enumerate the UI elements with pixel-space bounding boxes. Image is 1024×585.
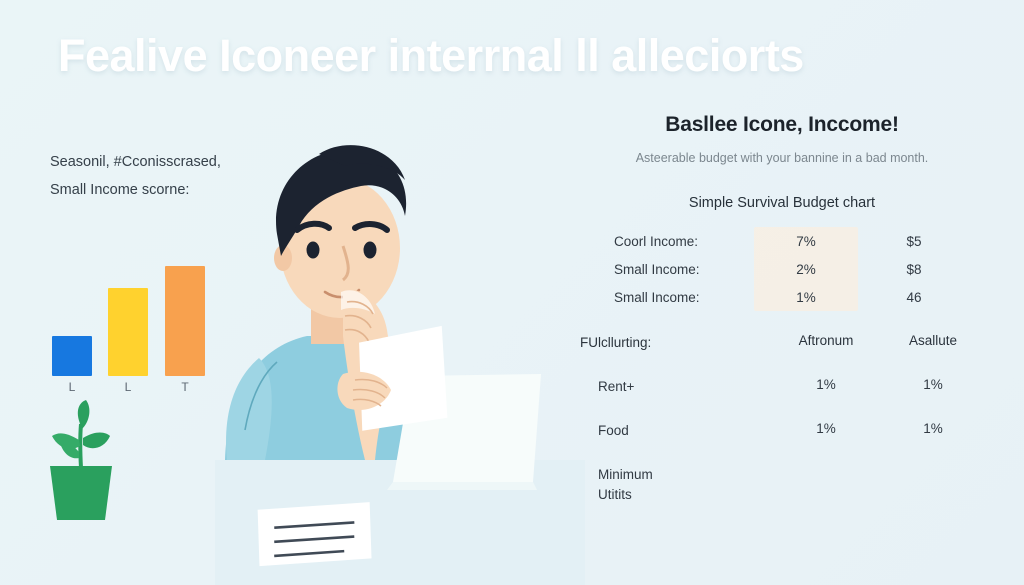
budget-row-percent: 1% [754,290,858,305]
table-row: Coorl Income: 7% $5 [580,227,984,255]
budget-row-amount: $5 [858,234,970,249]
bar-2 [165,266,205,376]
funding-row-label: Food [580,421,770,441]
potted-plant-icon [28,396,134,526]
bar-label-0: L [52,380,92,394]
panel-chart-title: Simple Survival Budget chart [580,195,984,211]
funding-header-col1: Aftronum [770,333,882,348]
bar-chart-plot-area [40,250,215,376]
bar-label-1: L [108,380,148,394]
budget-row-label: Small Income: [580,262,754,277]
budget-row-percent: 2% [754,262,858,277]
funding-header-label: FUlcllurting: [580,333,770,353]
budget-row-label: Coorl Income: [580,234,754,249]
budget-row-percent: 7% [754,234,858,249]
table-row: Small Income: 2% $8 [580,255,984,283]
budget-row-amount: 46 [858,290,970,305]
infographic-canvas: Fealive Iconeer interrnal ll alleciorts … [0,0,1024,585]
thinking-person-at-desk-illustration [215,130,585,585]
budget-row-label: Small Income: [580,290,754,305]
panel-subtitle: Asteerable budget with your bannine in a… [580,151,984,165]
table-row: Small Income: 1% 46 [580,283,984,311]
budget-row-amount: $8 [858,262,970,277]
page-title: Fealive Iconeer interrnal ll alleciorts [58,30,978,82]
bar-label-2: T [165,380,205,394]
funding-row-label: Minimum Utitits [580,465,770,504]
table-row: Food 1% 1% [580,421,984,451]
bar-0 [52,336,92,376]
funding-table-header: FUlcllurting: Aftronum Asallute [580,333,984,363]
funding-row-label: Rent+ [580,377,770,397]
funding-row-col2: 1% [882,377,984,392]
income-bar-chart: L L T [40,250,215,400]
table-row: Minimum Utitits [580,465,984,504]
funding-row-col2: 1% [882,421,984,436]
funding-header-col2: Asallute [882,333,984,348]
funding-table: FUlcllurting: Aftronum Asallute Rent+ 1%… [580,333,984,504]
budget-table: Coorl Income: 7% $5 Small Income: 2% $8 … [580,227,984,311]
funding-row-col1: 1% [770,377,882,392]
table-row: Rent+ 1% 1% [580,377,984,407]
funding-row-col1: 1% [770,421,882,436]
budget-panel: Basllee Icone, Inccome! Asteerable budge… [580,105,984,475]
panel-heading: Basllee Icone, Inccome! [580,113,984,137]
bar-1 [108,288,148,376]
